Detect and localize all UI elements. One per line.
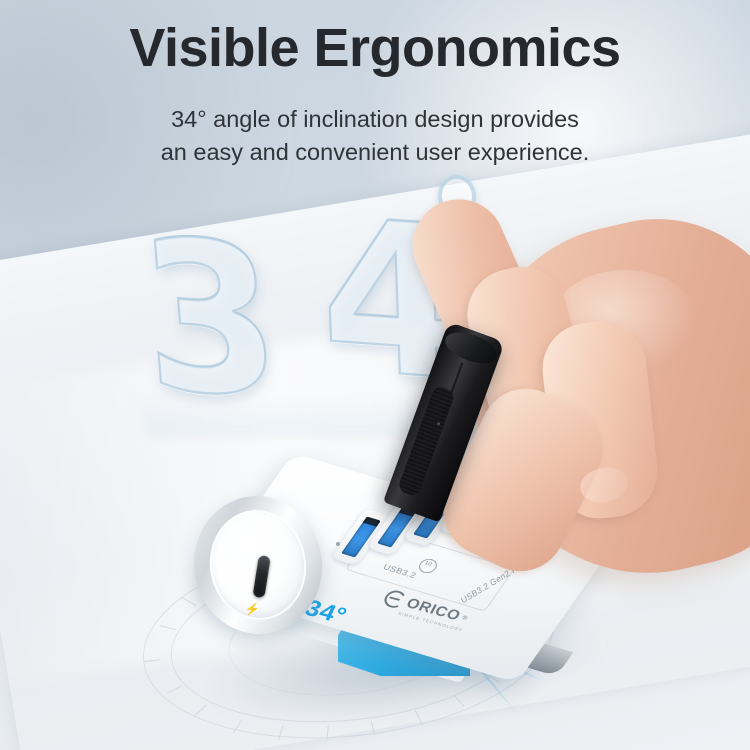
subtitle-line-1: 34° angle of inclination design provides [0, 103, 750, 136]
page-headline: Visible Ergonomics [0, 20, 750, 76]
status-led [336, 542, 340, 546]
power-bolt-icon: ⚡ [245, 603, 261, 616]
product-marketing-image: Visible Ergonomics 34° angle of inclinat… [0, 0, 750, 750]
usb-c-face: ⚡ [203, 504, 313, 626]
usb-c-port [252, 555, 270, 598]
